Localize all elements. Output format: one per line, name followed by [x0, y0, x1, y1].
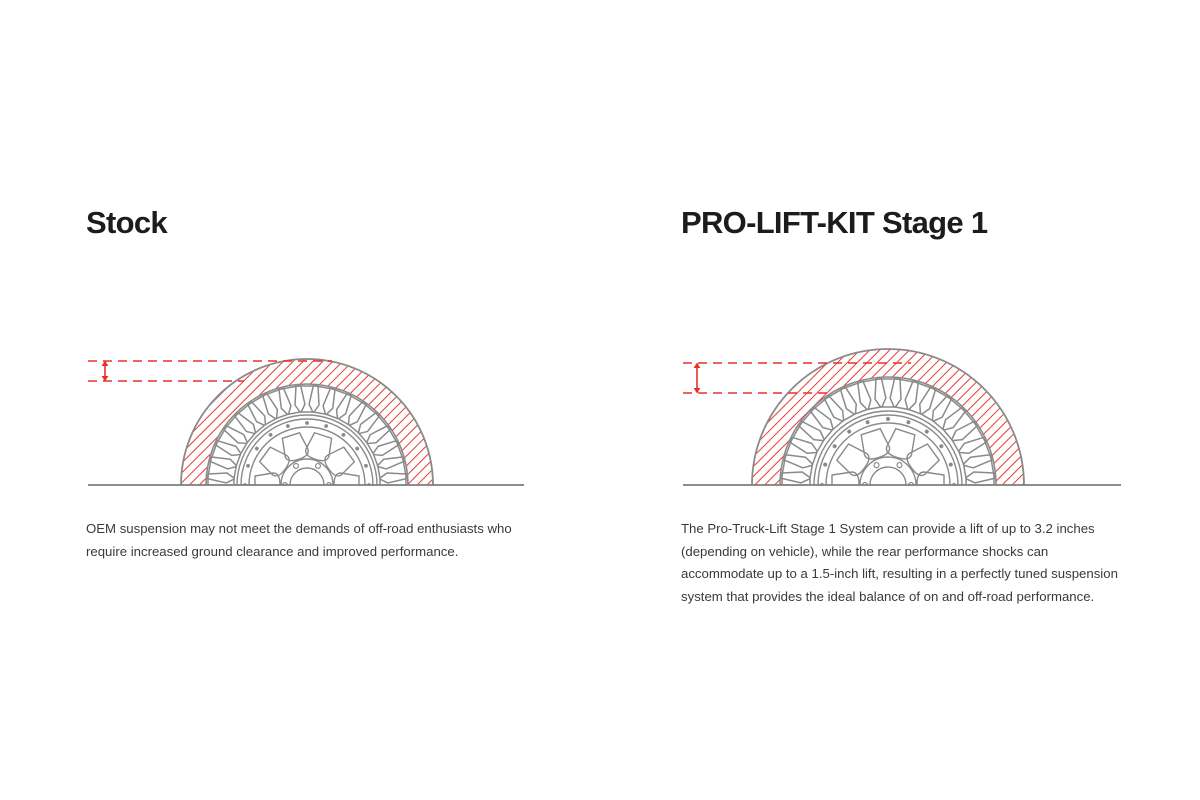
panel-body-pro-lift-kit: The Pro-Truck-Lift Stage 1 System can pr…	[681, 518, 1124, 608]
panel-title-stock: Stock	[86, 205, 526, 241]
panel-body-stock: OEM suspension may not meet the demands …	[86, 518, 518, 563]
diagram-stock	[86, 261, 526, 501]
diagram-pro-lift-kit	[681, 261, 1126, 501]
panel-stock: Stock	[86, 205, 526, 563]
panel-title-pro-lift-kit: PRO-LIFT-KIT Stage 1	[681, 205, 1126, 241]
wheel-gap-svg-stock	[86, 261, 526, 501]
wheel-gap-svg-pro-lift-kit	[681, 261, 1126, 501]
comparison-diagram-stage: Stock	[0, 0, 1200, 800]
panel-pro-lift-kit: PRO-LIFT-KIT Stage 1	[681, 205, 1126, 608]
tire-hatch-band	[681, 261, 1126, 501]
